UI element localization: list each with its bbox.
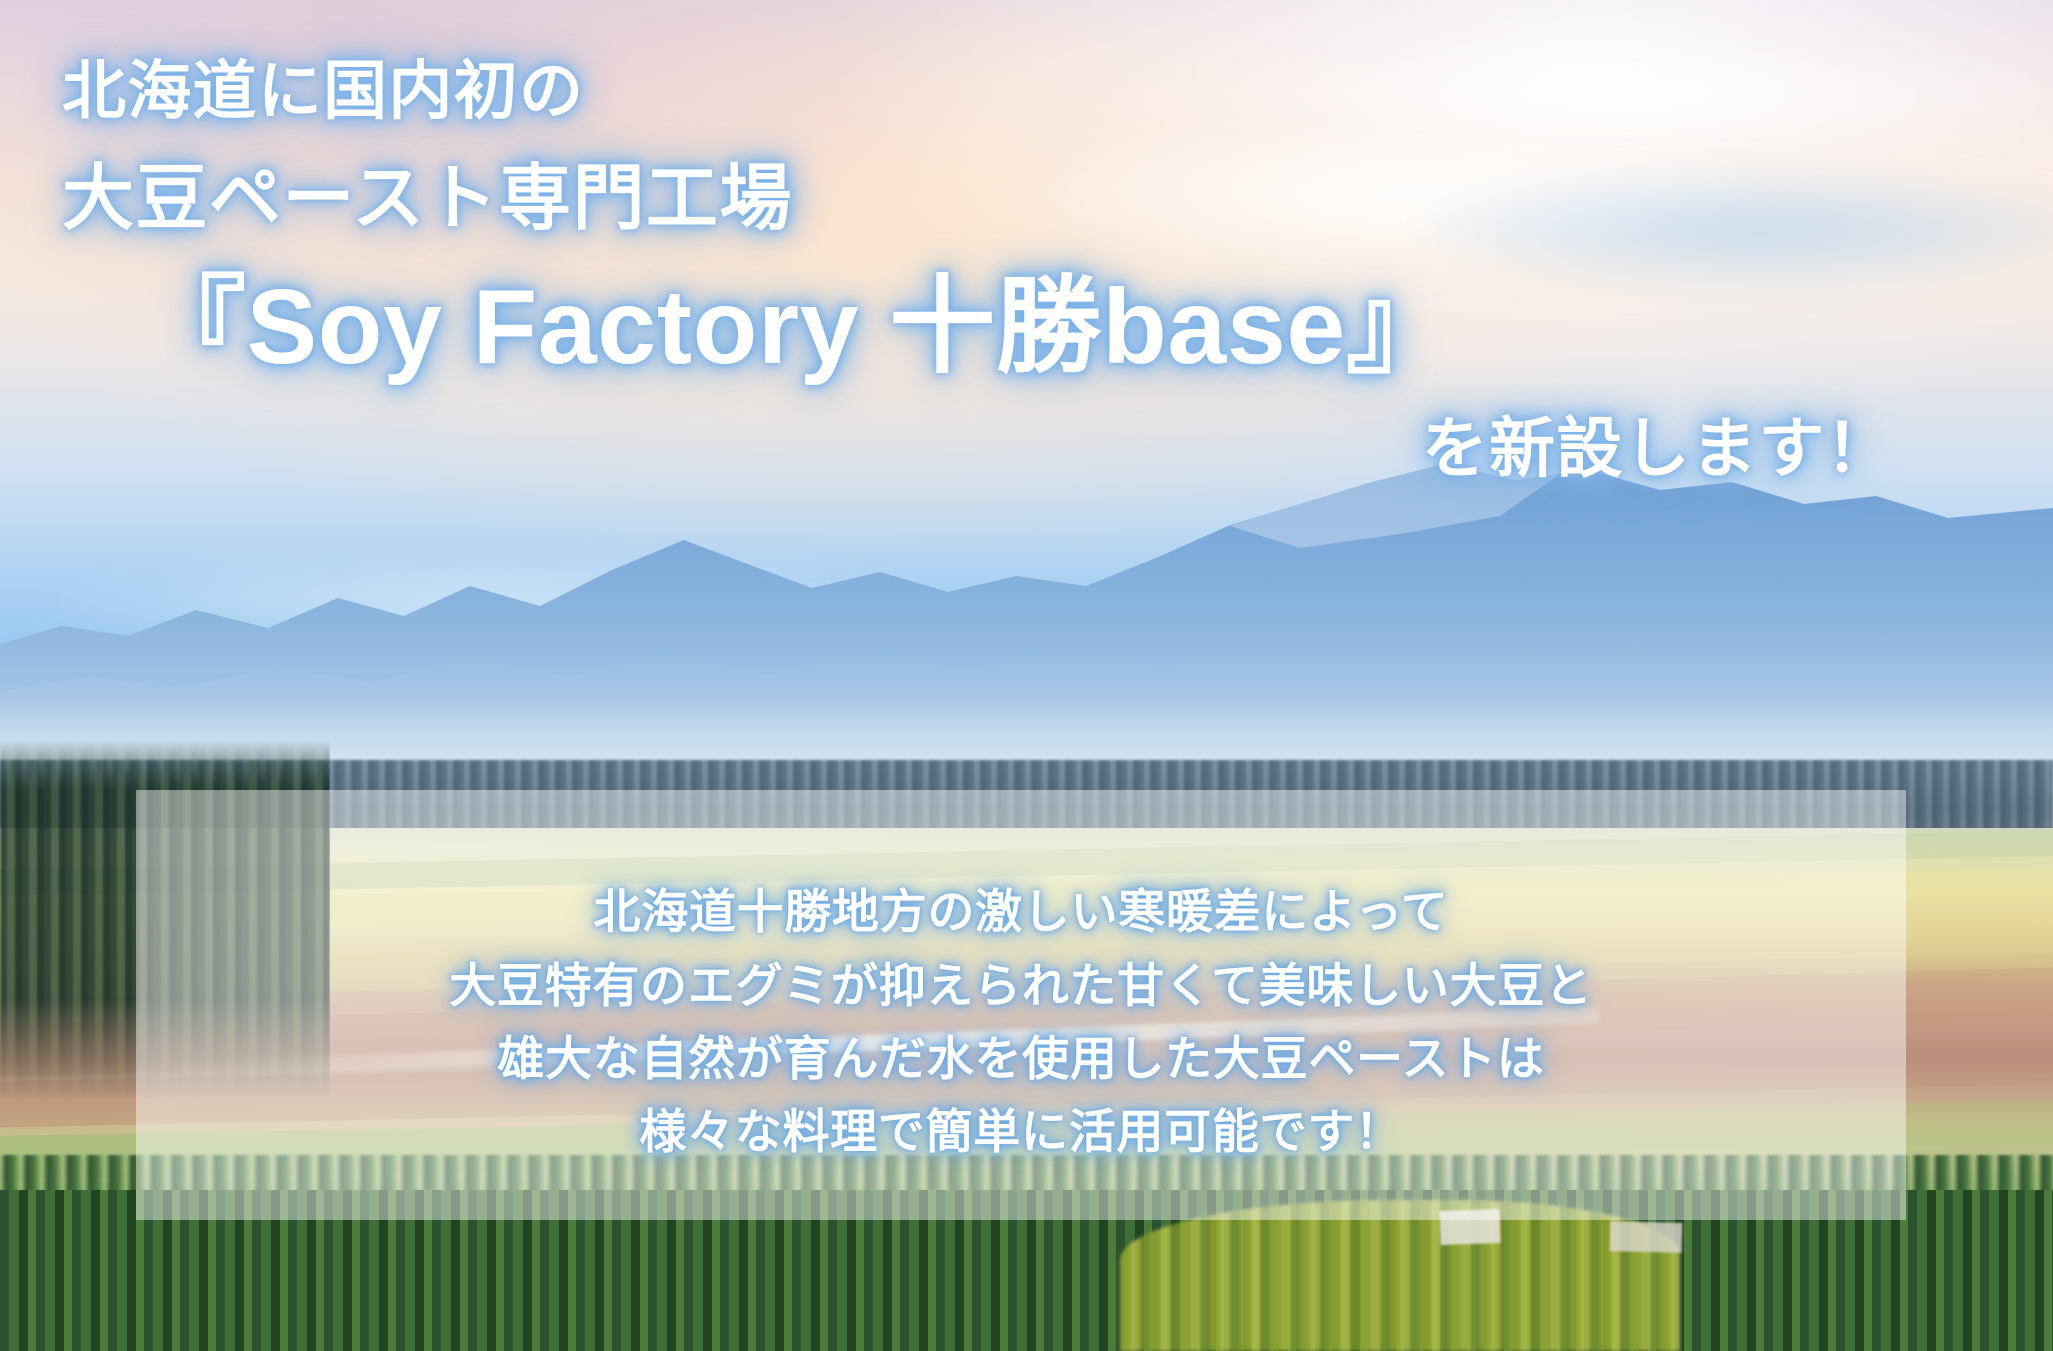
autumn-foliage-patch <box>1120 1200 1680 1351</box>
building-roof <box>1610 1221 1683 1253</box>
description-line: 様々な料理で簡単に活用可能です！ <box>639 1104 1402 1159</box>
description-panel: 北海道十勝地方の激しい寒暖差によって 大豆特有のエグミが抑えられた甘くて美味しい… <box>136 790 1906 1220</box>
description-line: 北海道十勝地方の激しい寒暖差によって <box>594 884 1449 939</box>
description-line: 雄大な自然が育んだ水を使用した大豆ペーストは <box>497 1031 1544 1086</box>
description-line: 大豆特有のエグミが抑えられた甘くて美味しい大豆と <box>449 958 1593 1013</box>
promotional-banner: 北海道に国内初の 大豆ペースト専門工場 『Soy Factory 十勝base』… <box>0 0 2053 1351</box>
